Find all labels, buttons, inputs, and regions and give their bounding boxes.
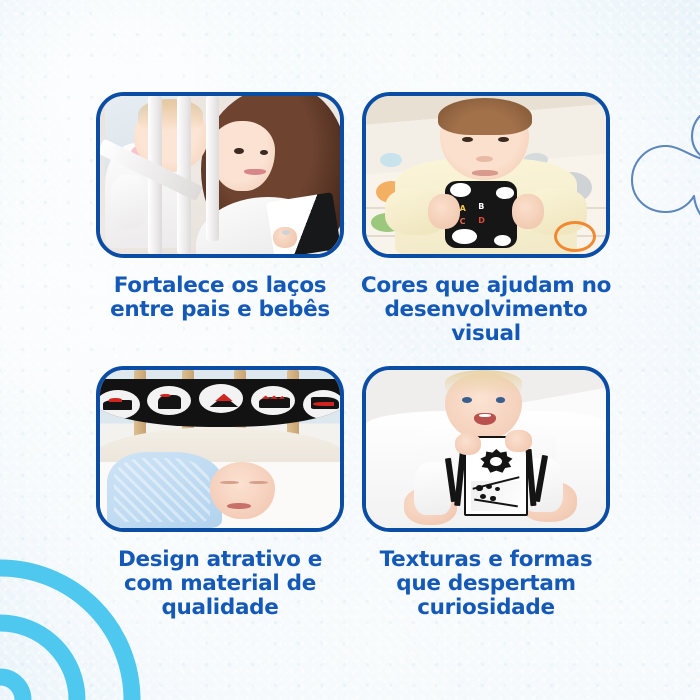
ball-letter: B [478,203,484,211]
caption-line: que despertam [396,571,575,596]
benefits-grid: Fortalece os laços entre pais e bebês [0,0,700,700]
benefit-card-bonding[interactable]: Fortalece os laços entre pais e bebês [96,92,344,322]
photo-frame-design-quality [96,366,344,532]
photo-frame-bonding [96,92,344,258]
ball-letter: D [478,217,485,225]
photo-frame-visual-development: A B C D [362,92,610,258]
photo-baby-holding-contrast-card [366,370,606,528]
benefit-caption-textures-shapes: Texturas e formas que despertam curiosid… [355,548,617,620]
caption-line: visual [451,321,521,346]
benefit-caption-visual-development: Cores que ajudam no desenvolvimento visu… [355,274,617,346]
caption-line: Design atrativo e [118,547,322,572]
caption-line: Cores que ajudam no [361,273,611,298]
photo-mother-and-baby-at-crib [100,96,340,254]
caption-line: Fortalece os laços [114,273,327,298]
ball-letter: A [460,205,466,213]
caption-line: qualidade [161,595,278,620]
caption-line: entre pais e bebês [110,297,330,322]
photo-sleeping-baby-with-dino-book [100,370,340,528]
photo-frame-textures-shapes [362,366,610,532]
benefits-poster: Fortalece os laços entre pais e bebês [0,0,700,700]
benefit-caption-bonding: Fortalece os laços entre pais e bebês [89,274,351,322]
caption-line: desenvolvimento [384,297,587,322]
ball-letter: C [460,218,466,226]
benefit-card-textures-shapes[interactable]: Texturas e formas que despertam curiosid… [362,366,610,620]
caption-line: com material de [124,571,316,596]
benefit-caption-design-quality: Design atrativo e com material de qualid… [89,548,351,620]
benefit-card-visual-development[interactable]: A B C D Cores que ajudam no desenvolvime… [362,92,610,346]
caption-line: Texturas e formas [380,547,593,572]
benefit-card-design-quality[interactable]: Design atrativo e com material de qualid… [96,366,344,620]
photo-baby-with-abc-ball: A B C D [366,96,606,254]
caption-line: curiosidade [417,595,555,620]
